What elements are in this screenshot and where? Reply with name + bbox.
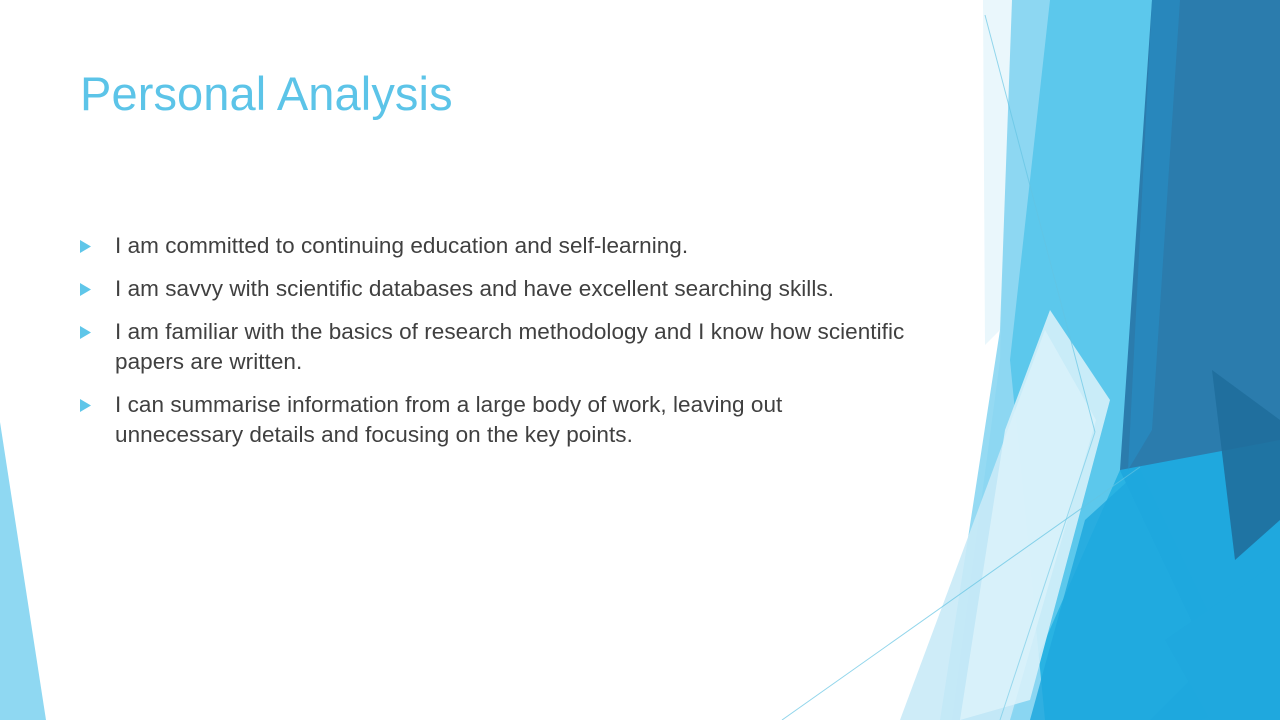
facet-bright-sliver (1165, 560, 1280, 720)
hairline-diagonal-lower (1000, 432, 1095, 720)
page-title: Personal Analysis (80, 68, 453, 121)
facet-cyan-slab (980, 420, 1210, 720)
facet-light-band (940, 0, 1050, 720)
list-item-label: I am savvy with scientific databases and… (115, 274, 908, 304)
list-item-label: I can summarise information from a large… (115, 390, 908, 450)
triangle-bullet-icon (78, 231, 115, 254)
facet-steel-wedge (1096, 0, 1280, 640)
slide-canvas: Personal Analysis I am committed to cont… (0, 0, 1280, 720)
list-item-label: I am committed to continuing education a… (115, 231, 908, 261)
list-item: I can summarise information from a large… (78, 390, 908, 450)
hairline-diagonal-upper (985, 15, 1095, 432)
triangle-bullet-icon (78, 274, 115, 297)
facet-sky-band (952, 0, 1152, 720)
facet-pale-highlight (960, 310, 1110, 720)
list-item: I am committed to continuing education a… (78, 231, 908, 261)
triangle-bullet-icon (78, 317, 115, 340)
facet-pale-wedge-lower (900, 330, 1096, 720)
facet-cyan-overlay (1030, 470, 1250, 720)
list-item-label: I am familiar with the basics of researc… (115, 317, 908, 377)
facet-blue-slab-right (1055, 440, 1280, 720)
list-item: I am familiar with the basics of researc… (78, 317, 908, 377)
facet-deep-notch (1212, 370, 1280, 560)
hairline-diagonal-cross (782, 467, 1140, 720)
facet-pale-wedge-upper (983, 0, 1012, 345)
triangle-bullet-icon (78, 390, 115, 413)
facet-medium-sliver (1128, 0, 1180, 470)
facet-deep-right (1120, 0, 1280, 700)
list-item: I am savvy with scientific databases and… (78, 274, 908, 304)
bullet-list: I am committed to continuing education a… (78, 231, 908, 450)
bottom-left-accent-triangle (0, 422, 46, 720)
